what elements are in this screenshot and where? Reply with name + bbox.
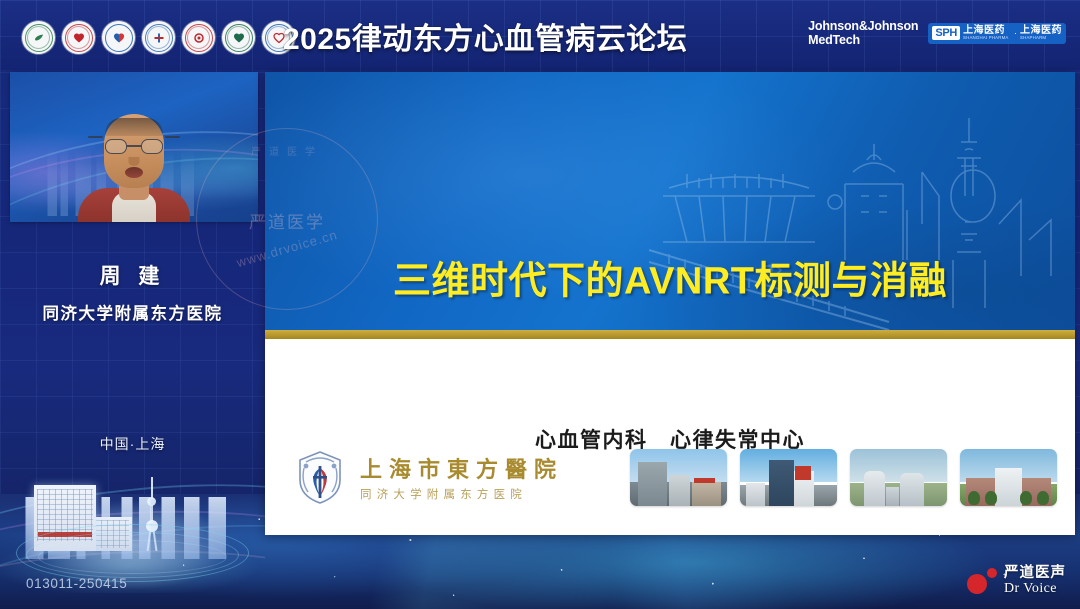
johnson-johnson-medtech-logo: Johnson&Johnson MedTech xyxy=(808,19,918,48)
dr-voice-english: Dr Voice xyxy=(1004,581,1066,597)
organization-logo-row xyxy=(22,21,295,54)
event-location-label: 中国·上海 xyxy=(0,434,265,454)
org-logo-2-icon xyxy=(62,21,95,54)
org-logo-6-icon xyxy=(222,21,255,54)
hospital-logo-block: 上海市東方醫院 同济大学附属东方医院 xyxy=(292,448,563,506)
slide-gold-divider xyxy=(265,330,1075,339)
jj-logo-line2: MedTech xyxy=(808,33,918,47)
presenter-affiliation: 同济大学附属东方医院 xyxy=(0,300,265,324)
stream-code-label: 013011-250415 xyxy=(26,576,127,591)
dr-voice-dots-icon xyxy=(967,568,997,594)
presenter-name: 周 建 xyxy=(0,260,265,290)
hospital-photo-3 xyxy=(850,449,947,506)
org-logo-5-icon xyxy=(182,21,215,54)
sph-chinese-name-2: 上海医药 SHAPHARM xyxy=(1020,26,1062,41)
sponsor-logo-group: Johnson&Johnson MedTech SPH 上海医药 SHANGHA… xyxy=(808,19,1066,48)
page-title: 2025律动东方心血管病云论坛 xyxy=(283,14,687,58)
dr-voice-chinese: 严道医声 xyxy=(1004,565,1066,581)
sph-chinese-name: 上海医药 SHANGHAI PHARMA xyxy=(963,26,1011,41)
sph-cn2-sub: SHAPHARM xyxy=(1020,36,1060,41)
presenter-panel: 周 建 同济大学附属东方医院 中国·上海 013011-250415 xyxy=(0,70,265,609)
org-logo-1-icon xyxy=(22,21,55,54)
presentation-slide[interactable]: 三维时代下的AVNRT标测与消融 心血管内科 心律失常中心 周 建 xyxy=(265,72,1075,535)
sph-cn-sub: SHANGHAI PHARMA xyxy=(963,36,1009,41)
hospital-name-block: 上海市東方醫院 同济大学附属东方医院 xyxy=(360,452,563,502)
hospital-photo-4 xyxy=(960,449,1057,506)
sph-logo: SPH 上海医药 SHANGHAI PHARMA · 上海医药 SHAPHARM xyxy=(928,23,1066,44)
sph-badge-text: SPH xyxy=(932,26,960,40)
event-header-bar: 2025律动东方心血管病云论坛 Johnson&Johnson MedTech … xyxy=(0,0,1080,70)
slide-title: 三维时代下的AVNRT标测与消融 xyxy=(265,250,1075,305)
presenter-glasses-icon xyxy=(105,139,163,154)
dr-voice-text-block: 严道医声 Dr Voice xyxy=(1004,565,1066,597)
hospital-photo-2 xyxy=(740,449,837,506)
presenter-video-feed[interactable] xyxy=(10,72,258,222)
org-logo-4-icon xyxy=(142,21,175,54)
jj-logo-line1: Johnson&Johnson xyxy=(808,19,918,33)
hospital-photo-1 xyxy=(630,449,727,506)
slide-footer: 上海市東方醫院 同济大学附属东方医院 xyxy=(265,440,1075,535)
hospital-photo-row xyxy=(630,449,1057,506)
hospital-name-simplified: 同济大学附属东方医院 xyxy=(360,486,563,502)
hospital-crest-icon xyxy=(292,448,348,506)
hospital-name-traditional: 上海市東方醫院 xyxy=(360,452,563,484)
dr-voice-branding: 严道医声 Dr Voice xyxy=(967,565,1066,597)
org-logo-3-icon xyxy=(102,21,135,54)
presenter-figure xyxy=(78,112,190,222)
sph-separator: · xyxy=(1014,28,1017,38)
screen-root: 2025律动东方心血管病云论坛 Johnson&Johnson MedTech … xyxy=(0,0,1080,609)
